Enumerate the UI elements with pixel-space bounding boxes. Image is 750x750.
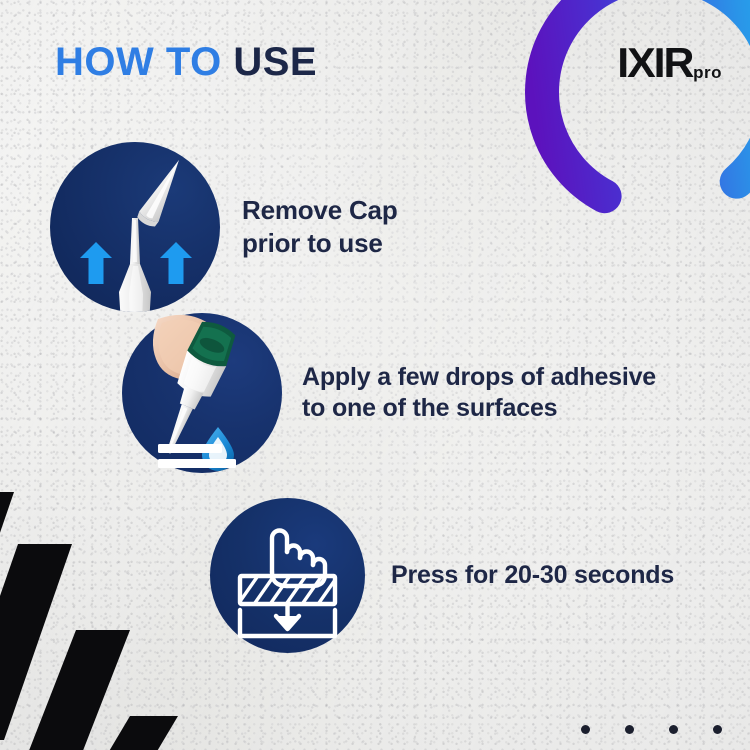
pagination-dot-4[interactable] xyxy=(713,725,722,734)
brand-logo: IXIR pro xyxy=(618,42,722,84)
pagination-dot-3[interactable] xyxy=(669,725,678,734)
brand-logo-suffix: pro xyxy=(693,64,722,81)
step-1-text-line-1: Remove Cap xyxy=(242,194,398,227)
pagination-dot-2[interactable] xyxy=(625,725,634,734)
step-1-icon-circle xyxy=(50,142,220,312)
step-3: Press for 20-30 seconds xyxy=(210,498,674,653)
step-3-icon-circle xyxy=(210,498,365,653)
pagination-dots[interactable] xyxy=(581,725,722,734)
page-title-dark: USE xyxy=(233,40,317,84)
page-title: HOW TO USE xyxy=(55,40,317,85)
step-1-text: Remove Cap prior to use xyxy=(242,194,398,260)
step-3-text: Press for 20-30 seconds xyxy=(391,560,674,592)
step-3-text-line-1: Press for 20-30 seconds xyxy=(391,560,674,592)
press-down-icon xyxy=(210,498,365,653)
step-2-text: Apply a few drops of adhesive to one of … xyxy=(302,362,656,425)
poster-canvas: HOW TO USE IXIR pro xyxy=(0,0,750,750)
step-1-text-line-2: prior to use xyxy=(242,227,398,260)
step-1: Remove Cap prior to use xyxy=(50,142,398,312)
step-2-icon-circle xyxy=(122,313,282,473)
diagonal-stripes-decoration xyxy=(0,440,170,750)
pagination-dot-1[interactable] xyxy=(581,725,590,734)
remove-cap-icon xyxy=(50,142,220,312)
page-title-accent: HOW TO xyxy=(55,40,222,84)
brand-logo-mark: IXIR xyxy=(618,42,693,84)
step-2-text-line-1: Apply a few drops of adhesive xyxy=(302,362,656,394)
apply-drops-icon xyxy=(122,313,282,473)
gradient-ring-decoration xyxy=(510,0,750,242)
step-2: Apply a few drops of adhesive to one of … xyxy=(122,313,656,473)
step-2-text-line-2: to one of the surfaces xyxy=(302,393,656,425)
